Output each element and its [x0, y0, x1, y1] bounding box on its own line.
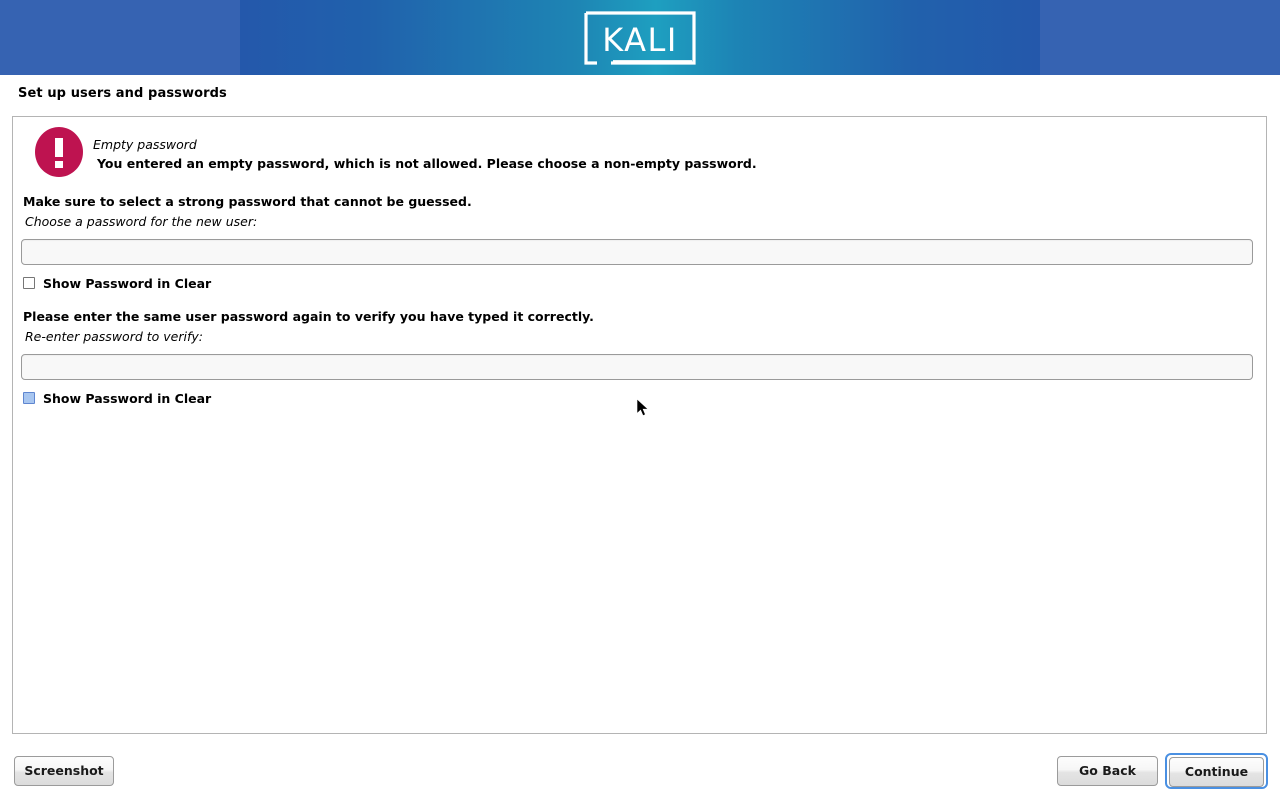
exclamation-stem: [55, 138, 63, 157]
kali-logo-text: KALI: [602, 21, 678, 59]
screenshot-button[interactable]: Screenshot: [14, 756, 114, 786]
exclamation-dot: [55, 161, 63, 168]
kali-logo: KALI: [583, 10, 697, 66]
verify-password-input[interactable]: [21, 354, 1253, 380]
installer-banner: KALI: [0, 0, 1280, 75]
password-input[interactable]: [21, 239, 1253, 265]
show-password-label-1: Show Password in Clear: [43, 276, 211, 291]
error-exclamation-icon: [35, 127, 83, 177]
go-back-button[interactable]: Go Back: [1057, 756, 1158, 786]
verify-section-heading: Please enter the same user password agai…: [23, 309, 594, 324]
continue-button[interactable]: Continue: [1169, 757, 1264, 787]
checkbox-box-icon[interactable]: [23, 277, 35, 289]
show-password-checkbox-2[interactable]: Show Password in Clear: [23, 390, 211, 406]
page-title: Set up users and passwords: [18, 86, 227, 101]
error-title: Empty password: [93, 137, 197, 152]
show-password-checkbox-1[interactable]: Show Password in Clear: [23, 275, 211, 291]
main-content-panel: Empty password You entered an empty pass…: [12, 116, 1267, 734]
password-section-heading: Make sure to select a strong password th…: [23, 194, 472, 209]
password-field-label: Choose a password for the new user:: [25, 214, 257, 229]
show-password-label-2: Show Password in Clear: [43, 391, 211, 406]
error-text: You entered an empty password, which is …: [97, 156, 757, 171]
verify-field-label: Re-enter password to verify:: [25, 329, 203, 344]
checkbox-box-icon[interactable]: [23, 392, 35, 404]
